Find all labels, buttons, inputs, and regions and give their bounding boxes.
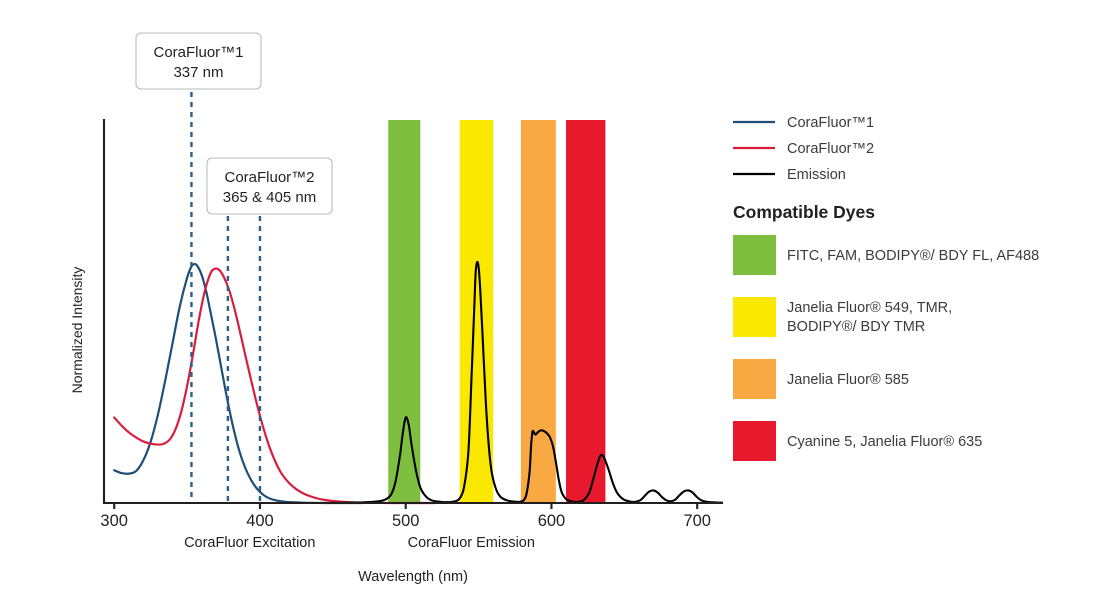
x-axis-title: Wavelength (nm) [358, 569, 468, 585]
dye-label-1-1: BODIPY®/ BDY TMR [787, 319, 925, 335]
green-band [388, 120, 420, 503]
dye-swatch-2 [733, 359, 776, 399]
x-tick-label-300: 300 [100, 512, 128, 530]
dye-label-2-0: Janelia Fluor® 585 [787, 372, 909, 388]
red-band [566, 120, 605, 503]
dye-swatch-1 [733, 297, 776, 337]
legend-label-0: CoraFluor™1 [787, 115, 874, 131]
compatible-dyes-heading: Compatible Dyes [733, 202, 875, 222]
y-axis-title: Normalized Intensity [69, 267, 85, 394]
corafluor-2-callout-line1: CoraFluor™2 [224, 169, 314, 186]
orange-band [521, 120, 556, 503]
dye-label-0-0: FITC, FAM, BODIPY®/ BDY FL, AF488 [787, 248, 1039, 264]
x-tick-label-600: 600 [538, 512, 566, 530]
corafluor-2-callout-line2: 365 & 405 nm [223, 189, 316, 206]
region-label-0: CoraFluor Excitation [184, 535, 315, 551]
corafluor-2-callout: CoraFluor™2365 & 405 nm [207, 158, 332, 214]
corafluor-1-callout-line1: CoraFluor™1 [153, 44, 243, 61]
region-label-1: CoraFluor Emission [408, 535, 535, 551]
legend-label-1: CoraFluor™2 [787, 141, 874, 157]
x-tick-label-400: 400 [246, 512, 274, 530]
x-tick-label-500: 500 [392, 512, 420, 530]
legend-label-2: Emission [787, 167, 846, 183]
corafluor-1-callout-line2: 337 nm [173, 64, 223, 81]
dye-swatch-0 [733, 235, 776, 275]
spectral-overlap-chart: 300400500600700CoraFluor ExcitationCoraF… [0, 0, 1110, 612]
dye-swatch-3 [733, 421, 776, 461]
corafluor-1-callout: CoraFluor™1337 nm [136, 33, 261, 89]
dye-label-3-0: Cyanine 5, Janelia Fluor® 635 [787, 434, 982, 450]
dye-label-1-0: Janelia Fluor® 549, TMR, [787, 300, 952, 316]
x-tick-label-700: 700 [683, 512, 711, 530]
